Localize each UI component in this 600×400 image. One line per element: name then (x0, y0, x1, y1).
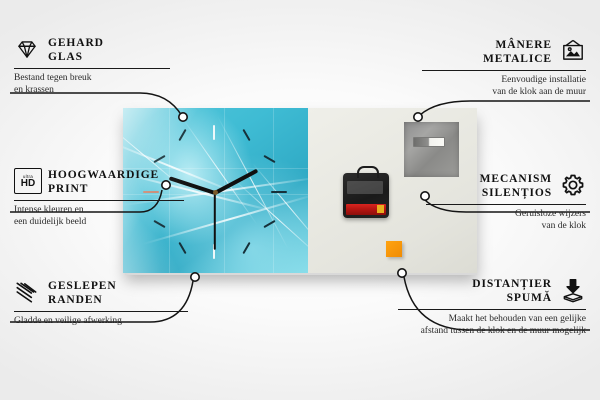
ultra-hd-icon: ultra HD (14, 168, 40, 194)
feature-title: MECANISM SILENȚIOS (480, 172, 552, 200)
feature-title: GESLEPEN RANDEN (48, 279, 117, 307)
hanger-slot (413, 137, 445, 147)
wall-hanger-icon (560, 38, 586, 64)
clock-tick (271, 191, 287, 193)
clock-tick (242, 242, 250, 254)
feature-rule (398, 309, 586, 310)
battery-plus-terminal (377, 205, 384, 213)
clock-tick (213, 125, 215, 140)
gear-icon (560, 172, 586, 198)
feature-description: Eenvoudige installatie van de klok aan d… (406, 74, 586, 98)
feature-gehard-glas: GEHARD GLAS Bestand tegen breuk en krass… (14, 36, 194, 96)
feature-rule (14, 311, 188, 312)
clock-center-cap (213, 190, 218, 195)
infographic-canvas: GEHARD GLAS Bestand tegen breuk en krass… (0, 0, 600, 400)
clock-tick (242, 129, 250, 141)
clock-tick (178, 129, 186, 141)
feature-description: Geruisloze wijzers van de klok (412, 208, 586, 232)
diamond-icon (14, 36, 40, 62)
feature-rule (14, 68, 170, 69)
clock-mechanism-part (343, 173, 389, 218)
feature-mecanism-silentios: MECANISM SILENȚIOS Geruisloze wijzers va… (412, 172, 586, 232)
feature-rule (422, 70, 586, 71)
feature-title: DISTANȚIER SPUMĂ (382, 277, 552, 305)
feature-description: Gladde en veilige afwerking (14, 315, 204, 327)
feature-rule (426, 204, 586, 205)
foam-spacer-part (386, 241, 402, 257)
bevelled-edge-icon (14, 279, 40, 305)
metal-hanger-part (404, 122, 459, 177)
clock-tick (178, 242, 186, 254)
mechanism-hook (357, 166, 379, 178)
feature-distantier-spuma: DISTANȚIER SPUMĂ Maakt het behouden van … (382, 277, 586, 337)
ultra-hd-icon-main-text: HD (21, 179, 35, 189)
battery-part (346, 204, 386, 215)
feature-manere-metalice: MÂNERE METALICE Eenvoudige installatie v… (406, 38, 586, 98)
feature-description: Maakt het behouden van een gelijke afsta… (382, 313, 586, 337)
mechanism-label (347, 181, 383, 194)
feature-description: Bestand tegen breuk en krassen (14, 72, 194, 96)
feature-geslepen-randen: GESLEPEN RANDEN Gladde en veilige afwerk… (14, 279, 204, 327)
feature-description: Intense kleuren en een duidelijk beeld (14, 204, 204, 228)
feature-title: HOOGWAARDIGE PRINT (48, 168, 159, 196)
feature-title: GEHARD GLAS (48, 36, 104, 64)
feature-rule (14, 200, 184, 201)
spacer-arrow-icon (560, 277, 586, 303)
feature-hoogwaardige-print: ultra HD HOOGWAARDIGE PRINT Intense kleu… (14, 168, 204, 228)
clock-second-hand (214, 192, 216, 249)
feature-title: MÂNERE METALICE (483, 38, 552, 66)
